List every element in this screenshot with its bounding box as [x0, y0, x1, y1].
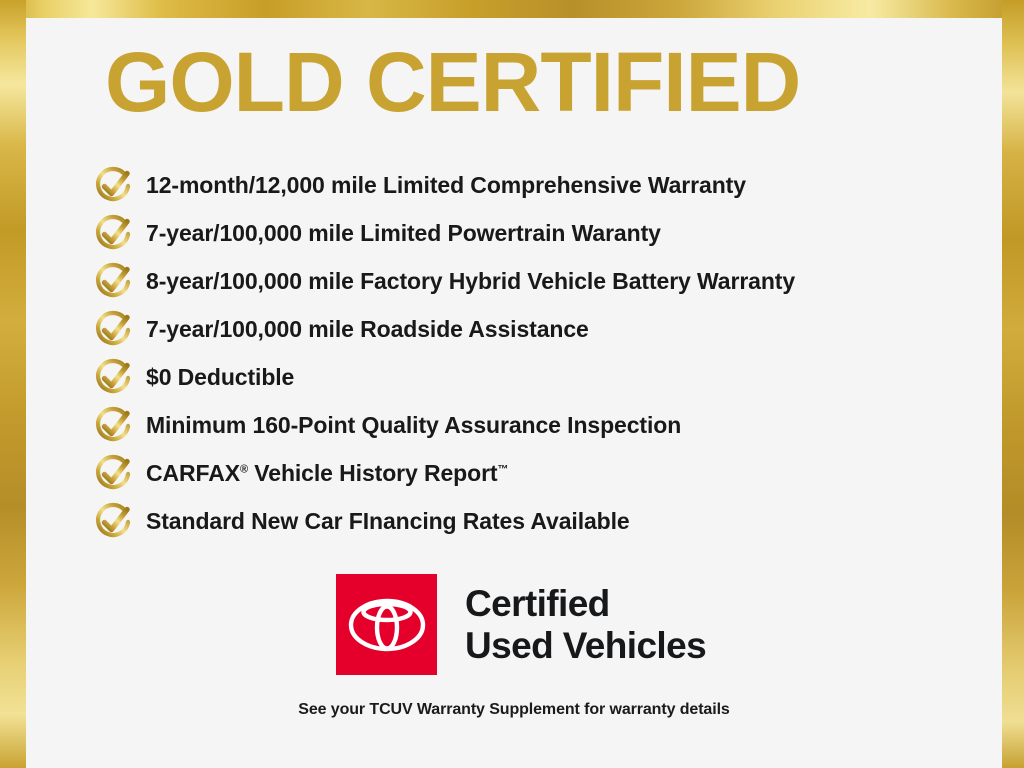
logo-line-2: Used Vehicles — [465, 625, 706, 666]
gold-check-icon — [92, 309, 134, 351]
carfax-label-rest: Vehicle History Report — [248, 460, 498, 486]
carfax-wordmark: CARFAX — [146, 460, 240, 486]
list-item: CARFAX® Vehicle History Report™ — [92, 450, 992, 498]
gold-border-right — [1002, 0, 1024, 768]
warranty-disclaimer: See your TCUV Warranty Supplement for wa… — [26, 701, 1002, 719]
benefit-label: Standard New Car FInancing Rates Availab… — [146, 509, 630, 534]
benefit-label: $0 Deductible — [146, 365, 294, 390]
benefit-label: 7-year/100,000 mile Roadside Assistance — [146, 317, 589, 342]
poster-content-card: GOLD CERTIFIED — [26, 18, 1002, 723]
benefit-label: 12-month/12,000 mile Limited Comprehensi… — [146, 173, 746, 198]
gold-border-top — [0, 0, 1024, 18]
gold-check-icon — [92, 453, 134, 495]
list-item: 7-year/100,000 mile Limited Powertrain W… — [92, 210, 992, 258]
registered-mark: ® — [240, 464, 248, 476]
list-item: Standard New Car FInancing Rates Availab… — [92, 498, 992, 546]
list-item: 12-month/12,000 mile Limited Comprehensi… — [92, 162, 992, 210]
benefit-label: 7-year/100,000 mile Limited Powertrain W… — [146, 221, 661, 246]
gold-check-icon — [92, 165, 134, 207]
gold-check-icon — [92, 261, 134, 303]
benefit-label: Minimum 160-Point Quality Assurance Insp… — [146, 413, 681, 438]
gold-certified-poster: GOLD CERTIFIED — [0, 0, 1024, 768]
gold-check-icon — [92, 357, 134, 399]
benefits-list: 12-month/12,000 mile Limited Comprehensi… — [92, 162, 992, 546]
gold-border-bottom — [0, 723, 1024, 768]
gold-check-icon — [92, 405, 134, 447]
list-item: Minimum 160-Point Quality Assurance Insp… — [92, 402, 992, 450]
gold-check-icon — [92, 213, 134, 255]
toyota-certified-used-vehicles-logo: Certified Used Vehicles — [336, 574, 706, 675]
list-item: 7-year/100,000 mile Roadside Assistance — [92, 306, 992, 354]
list-item: $0 Deductible — [92, 354, 992, 402]
benefit-label: 8-year/100,000 mile Factory Hybrid Vehic… — [146, 269, 795, 294]
toyota-emblem-icon — [336, 574, 437, 675]
gold-check-icon — [92, 501, 134, 543]
list-item: 8-year/100,000 mile Factory Hybrid Vehic… — [92, 258, 992, 306]
logo-wordmark: Certified Used Vehicles — [465, 583, 706, 666]
trademark-mark: ™ — [497, 464, 508, 476]
logo-line-1: Certified — [465, 583, 706, 624]
gold-border-left — [0, 0, 26, 768]
page-title: GOLD CERTIFIED — [105, 40, 985, 124]
benefit-label-carfax: CARFAX® Vehicle History Report™ — [146, 461, 508, 486]
